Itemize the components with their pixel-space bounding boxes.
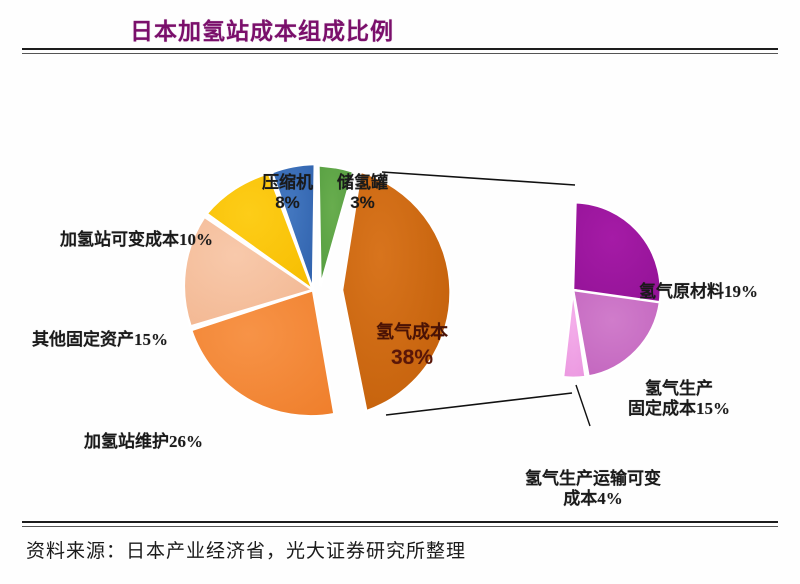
label-station-maintenance: 加氢站维护26%	[84, 432, 203, 452]
page-title: 日本加氢站成本组成比例	[130, 12, 394, 46]
label-hydrogen-cost: 氢气成本 38%	[352, 320, 472, 373]
leader-line-top	[382, 172, 575, 185]
label-storage-tank-value: 3%	[337, 193, 388, 213]
chart-page: 日本加氢站成本组成比例	[0, 0, 800, 584]
label-storage-tank: 储氢罐 3%	[337, 173, 388, 213]
label-hydrogen-cost-value: 38%	[352, 344, 472, 372]
header-rule-lower	[22, 53, 778, 54]
label-compressor-value: 8%	[262, 193, 313, 213]
label-compressor-name: 压缩机	[262, 173, 313, 193]
slice-production-fixed-cost[interactable]	[573, 290, 660, 377]
source-note: 资料来源：日本产业经济省，光大证券研究所整理	[26, 536, 466, 563]
header-rule-upper	[22, 48, 778, 50]
label-transport-variable-cost-line1: 氢气生产运输可变	[525, 469, 661, 489]
label-production-fixed-cost-line1: 氢气生产	[628, 379, 730, 399]
leader-line-transport-label	[576, 385, 590, 426]
footer-rule-upper	[22, 521, 778, 523]
label-storage-tank-name: 储氢罐	[337, 173, 388, 193]
label-other-fixed-assets: 其他固定资产15%	[32, 330, 168, 350]
label-station-variable-cost: 加氢站可变成本10%	[60, 230, 213, 250]
label-raw-material: 氢气原材料19%	[639, 282, 758, 302]
label-transport-variable-cost-line2: 成本4%	[525, 489, 661, 509]
pie-of-pie-chart: 压缩机 8% 储氢罐 3% 加氢站可变成本10% 其他固定资产15% 加氢站维护…	[0, 58, 800, 516]
leader-line-prod-fixed-label	[626, 358, 640, 376]
label-production-fixed-cost-line2: 固定成本15%	[628, 399, 730, 419]
primary-pie	[184, 164, 451, 416]
label-production-fixed-cost: 氢气生产 固定成本15%	[628, 379, 730, 419]
label-compressor: 压缩机 8%	[262, 173, 313, 213]
leader-line-bottom	[386, 393, 572, 415]
label-hydrogen-cost-name: 氢气成本	[352, 320, 472, 344]
footer-rule-lower	[22, 526, 778, 527]
label-transport-variable-cost: 氢气生产运输可变 成本4%	[525, 469, 661, 509]
